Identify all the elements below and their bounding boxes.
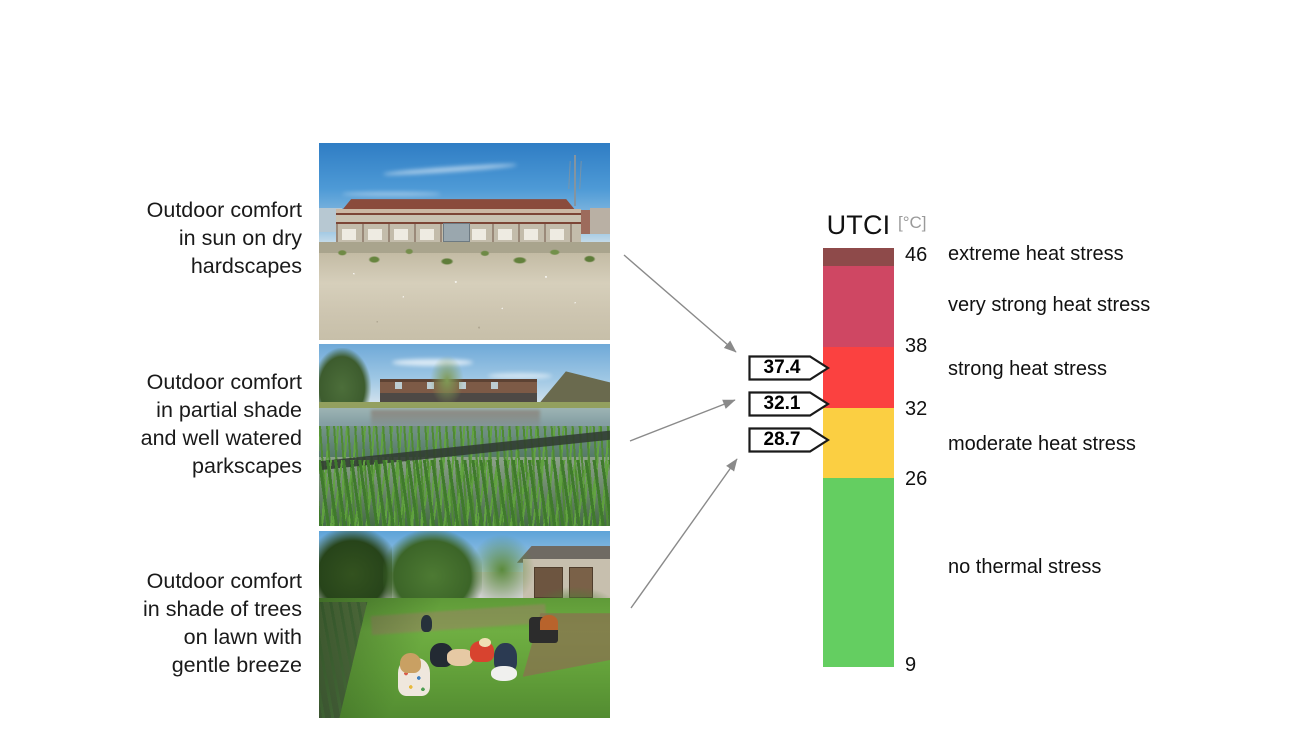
label-strong-heat-stress: strong heat stress [948,358,1107,381]
photo-tree-shade-lawn [319,531,610,718]
callout-value: 28.7 [748,427,816,453]
photo-partial-shade-parkscapes [319,344,610,526]
tick-26: 26 [905,468,927,491]
callout-value: 32.1 [748,391,816,417]
callout-value: 37.4 [748,355,816,381]
arrow-tree-shade-lawn [631,459,737,608]
figure-canvas: Outdoor comfortin sun on dryhardscapes O… [0,0,1300,731]
band-very-strong-heat-stress [823,266,894,347]
arrow-partial-shade-parkscapes [630,400,735,441]
photo-sun-dry-hardscapes [319,143,610,340]
callout-37-4: 37.4 [748,355,830,381]
label-moderate-heat-stress: moderate heat stress [948,433,1136,456]
band-extreme-heat-stress [823,248,894,266]
scenario-caption-sun-dry-hardscapes: Outdoor comfortin sun on dryhardscapes [62,196,302,280]
label-extreme-heat-stress: extreme heat stress [948,243,1124,266]
band-no-thermal-stress [823,478,894,667]
callout-28-7: 28.7 [748,427,830,453]
band-strong-heat-stress [823,347,894,408]
tick-46: 46 [905,244,927,267]
callout-32-1: 32.1 [748,391,830,417]
label-no-thermal-stress: no thermal stress [948,556,1101,579]
band-moderate-heat-stress [823,408,894,478]
scenario-caption-partial-shade-parkscapes: Outdoor comfortin partial shadeand well … [62,368,302,480]
tick-32: 32 [905,398,927,421]
scale-title: UTCI [823,210,894,241]
arrow-sun-dry-hardscapes [624,255,736,352]
utci-colorbar [823,248,894,667]
scale-unit-label: [°C] [898,213,927,233]
tick-38: 38 [905,335,927,358]
label-very-strong-heat-stress: very strong heat stress [948,294,1150,317]
tick-9: 9 [905,654,916,677]
scenario-caption-tree-shade-lawn: Outdoor comfortin shade of treeson lawn … [62,567,302,679]
